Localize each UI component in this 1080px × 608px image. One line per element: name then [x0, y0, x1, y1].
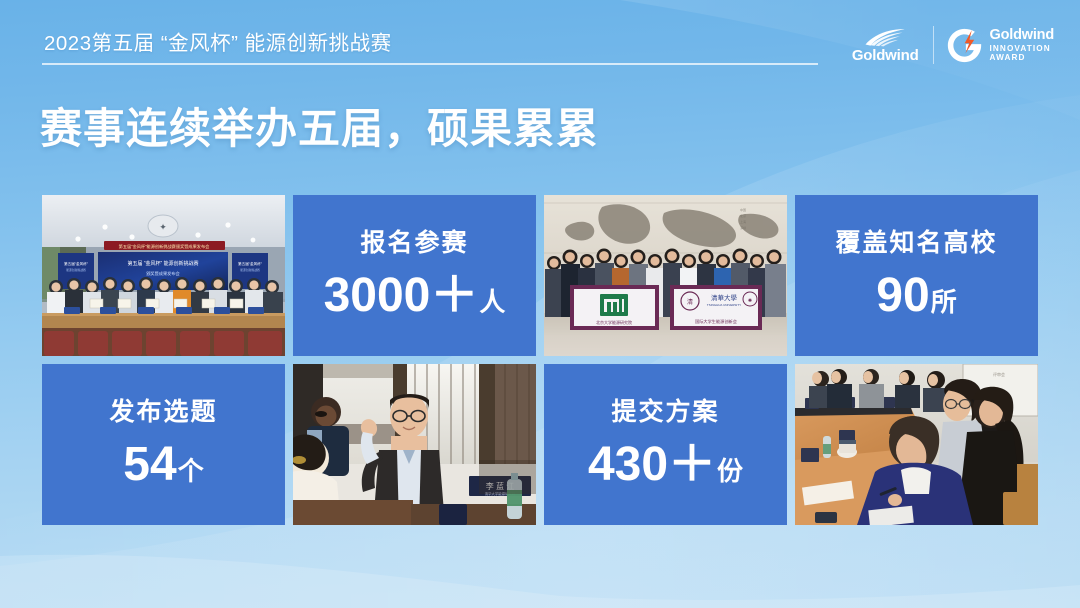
stats-photo-grid: ✦ 第五届“金风杯”能源创新挑战赛颁奖暨成果发布会 第五届 “金风杯” 能源创新… — [42, 195, 1038, 525]
stat-label: 提交方案 — [611, 400, 719, 425]
stat-number: 430＋ — [588, 441, 716, 489]
svg-text:✦: ✦ — [159, 222, 167, 232]
photo-tsinghua-delegation: 中国北京 上海深圳 — [544, 195, 787, 356]
stat-unit: 份 — [717, 458, 743, 484]
photo-review-meeting: 评审会 — [795, 364, 1038, 525]
stat-label: 覆盖知名高校 — [835, 231, 997, 256]
slide-root: 2023第五届 “金风杯” 能源创新挑战赛 Goldwind Go — [0, 0, 1080, 608]
brand-separator — [933, 26, 934, 64]
stat-registrations: 报名参赛 3000＋ 人 — [293, 195, 536, 356]
award-line-1: Goldwind — [990, 28, 1054, 44]
stat-label: 发布选题 — [109, 400, 217, 425]
svg-text:第五届“金风杯”: 第五届“金风杯” — [238, 261, 263, 266]
brand-lockup: Goldwind Goldwind INNOVATION AWARD — [852, 18, 1054, 72]
award-line-2: INNOVATION — [990, 44, 1054, 53]
svg-text:深圳: 深圳 — [740, 225, 746, 230]
svg-text:北京大学能源研究院: 北京大学能源研究院 — [596, 319, 632, 325]
svg-text:中国: 中国 — [740, 207, 746, 212]
stat-number: 54 — [123, 441, 176, 489]
stat-unit: 个 — [178, 458, 204, 484]
svg-text:第五届“金风杯”: 第五届“金风杯” — [64, 261, 89, 266]
photo-image: 评审会 — [795, 364, 1038, 525]
event-title: 2023第五届 “金风杯” 能源创新挑战赛 — [44, 26, 392, 56]
goldwind-wordmark: Goldwind — [852, 48, 919, 63]
stat-proposals: 提交方案 430＋ 份 — [544, 364, 787, 525]
stat-unit: 所 — [931, 289, 957, 315]
svg-text:北京: 北京 — [740, 213, 746, 218]
stat-value: 430＋ 份 — [588, 441, 743, 489]
stat-value: 3000＋ 人 — [324, 272, 506, 320]
svg-text:国际大学生能源创新会: 国际大学生能源创新会 — [695, 318, 738, 325]
photo-image: 中国北京 上海深圳 — [544, 195, 787, 356]
photo-image: ✦ 第五届“金风杯”能源创新挑战赛颁奖暨成果发布会 第五届 “金风杯” 能源创新… — [42, 195, 285, 356]
svg-text:颁奖暨成果发布会: 颁奖暨成果发布会 — [146, 270, 180, 277]
stat-topics: 发布选题 54 个 — [42, 364, 285, 525]
svg-text:第五届“金风杯”能源创新挑战赛颁奖暨成果发布会: 第五届“金风杯”能源创新挑战赛颁奖暨成果发布会 — [119, 243, 211, 250]
photo-image: 李 蓝 江 清华大学能源研究院 — [293, 364, 536, 525]
svg-text:第五届 “金风杯” 能源创新挑战赛: 第五届 “金风杯” 能源创新挑战赛 — [127, 260, 198, 267]
stat-label: 报名参赛 — [360, 231, 468, 256]
page-title: 赛事连续举办五届，硕果累累 — [40, 95, 599, 156]
stat-universities: 覆盖知名高校 90 所 — [795, 195, 1038, 356]
goldwind-logo: Goldwind — [852, 28, 921, 63]
svg-text:能源创新挑战赛: 能源创新挑战赛 — [240, 268, 260, 272]
svg-text:评审会: 评审会 — [993, 371, 1005, 377]
photo-award-ceremony: ✦ 第五届“金风杯”能源创新挑战赛颁奖暨成果发布会 第五届 “金风杯” 能源创新… — [42, 195, 285, 356]
goldwind-innovation-award-logo: Goldwind INNOVATION AWARD — [946, 27, 1054, 64]
goldwind-g-bolt-icon — [946, 27, 983, 64]
goldwind-swoosh-icon — [864, 28, 906, 47]
svg-text:能源创新挑战赛: 能源创新挑战赛 — [66, 268, 86, 272]
svg-text:清: 清 — [687, 298, 693, 306]
stat-number: 90 — [876, 272, 929, 320]
stat-unit: 人 — [479, 289, 505, 315]
svg-text:TSINGHUA UNIVERSITY: TSINGHUA UNIVERSITY — [707, 303, 741, 307]
header-divider — [42, 63, 818, 65]
award-wordmark: Goldwind INNOVATION AWARD — [990, 28, 1054, 62]
photo-discussion-panel: 李 蓝 江 清华大学能源研究院 — [293, 364, 536, 525]
svg-text:上海: 上海 — [740, 219, 746, 224]
award-line-3: AWARD — [990, 53, 1054, 62]
stat-number: 3000＋ — [324, 272, 479, 320]
svg-text:✺: ✺ — [748, 298, 752, 304]
svg-text:清華大學: 清華大學 — [711, 293, 738, 302]
stat-value: 90 所 — [876, 272, 956, 320]
stat-value: 54 个 — [123, 441, 203, 489]
